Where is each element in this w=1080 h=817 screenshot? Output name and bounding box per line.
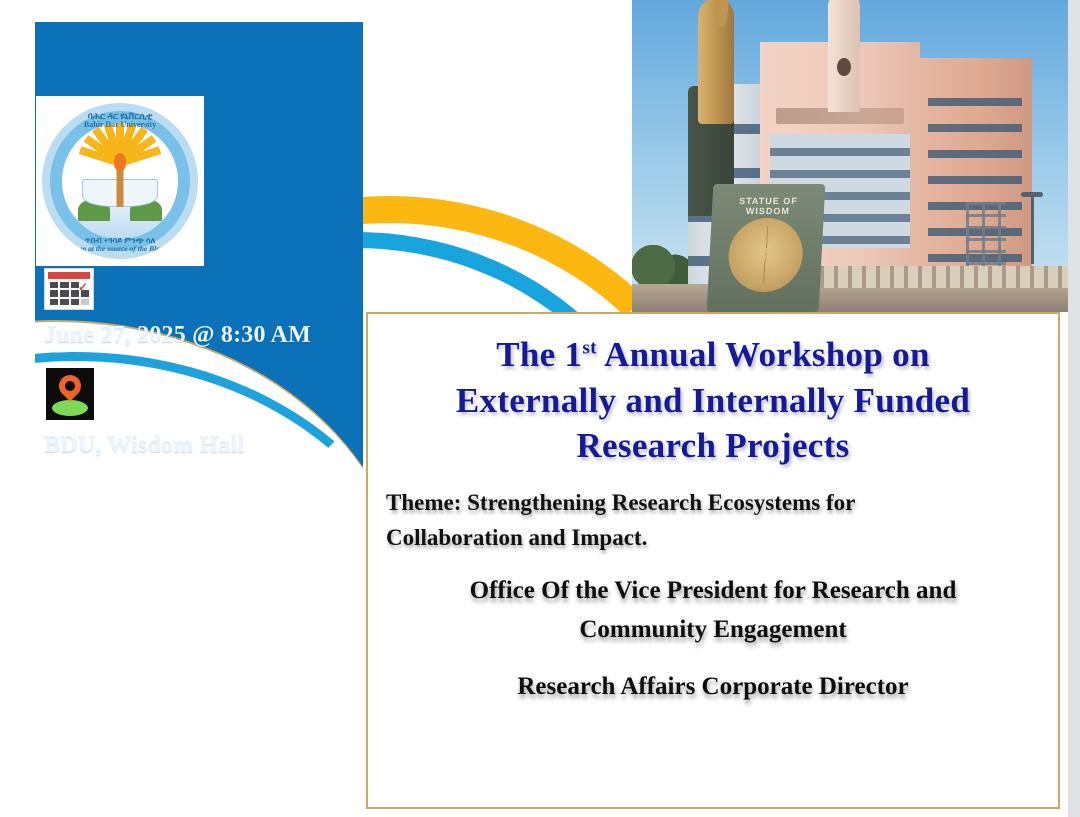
swoosh-left-mask [0,0,35,817]
office-line-2: Community Engagement [386,611,1040,650]
logo-english-bottom: Wisdom at the source of the Blue Nile [42,245,198,253]
photo-statue-pedestal: STATUE OF WISDOM [707,184,826,312]
campus-photo: STATUE OF WISDOM [632,0,1068,312]
poster-canvas: ባሕር ዳር ዩኒቨርሲቲ Bahir Dar University ጥበብ ፥… [0,0,1080,817]
content-panel: The 1st Annual Workshop on Externally an… [366,312,1060,809]
workshop-title-line-2: Externally and Internally Funded [384,378,1042,424]
statue-medallion [727,218,805,292]
title-post: Annual Workshop on [597,335,930,374]
page-gutter-right [1068,0,1080,817]
logo-english-top: Bahir Dar University [42,121,198,129]
event-location: BDU, Wisdom Hall [44,432,244,459]
photo-fence [782,266,1068,288]
organizing-role: Research Affairs Corporate Director [386,669,1040,704]
organizing-office: Office Of the Vice President for Researc… [386,572,1040,650]
office-line-1: Office Of the Vice President for Researc… [386,572,1040,611]
title-pre: The 1 [496,335,582,374]
calendar-check-icon: ✓ [78,281,88,293]
title-ordinal-suffix: st [582,337,597,358]
logo-waterfall [78,205,162,239]
photo-clock-tower [828,0,860,112]
workshop-title: The 1st Annual Workshop on Externally an… [384,332,1042,469]
logo-inner-scene [62,123,178,239]
workshop-title-line-3: Research Projects [384,423,1042,469]
logo-top-text: ባሕር ዳር ዩኒቨርሲቲ Bahir Dar University [42,112,198,130]
logo-bottom-text: ጥበብ ፥ዓባይ ምንጭ ሳለ Wisdom at the source of … [42,237,198,253]
logo-flame-icon [114,153,126,171]
map-pin-marker [54,370,85,401]
workshop-theme: Theme: Strengthening Research Ecosystems… [386,485,1040,556]
logo-torch-icon [117,167,124,207]
theme-line-2: Collaboration and Impact. [386,520,1040,556]
photo-ground [632,284,1068,312]
university-logo: ባሕር ዳር ዩኒቨርሲቲ Bahir Dar University ጥበብ ፥… [36,96,204,266]
theme-line-1: Theme: Strengthening Research Ecosystems… [386,485,1040,521]
event-date: June 27, 2025 @ 8:30 AM [44,322,311,349]
calendar-header-bar [48,272,90,279]
statue-plaque-text: STATUE OF WISDOM [722,196,815,210]
map-pin-icon [46,368,94,420]
photo-scaffold [966,202,1006,272]
map-pin-ground [52,400,88,416]
calendar-icon: ✓ [44,268,94,310]
photo-street-lamp [1031,196,1034,264]
logo-seal: ባሕር ዳር ዩኒቨርሲቲ Bahir Dar University ጥበብ ፥… [42,103,198,259]
workshop-title-line-1: The 1st Annual Workshop on [384,332,1042,378]
